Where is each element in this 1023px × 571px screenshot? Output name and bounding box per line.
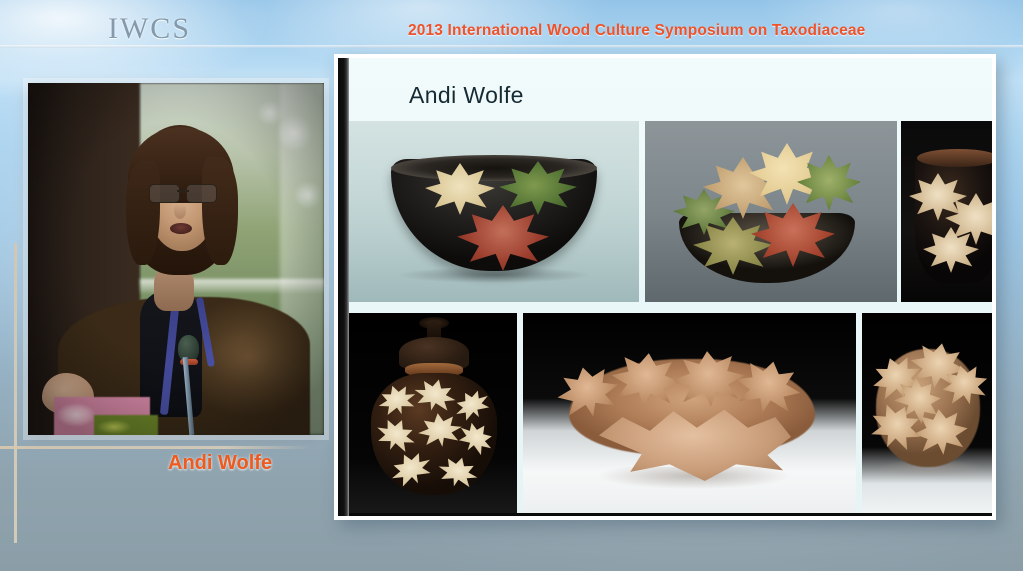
image-dark-carved-vessel[interactable]: [901, 121, 992, 302]
speaker-video-panel[interactable]: [28, 83, 324, 435]
vertical-accent-rule: [14, 243, 17, 543]
speaker-nose: [174, 203, 186, 219]
slide-image-grid: [349, 121, 992, 516]
header-divider: [0, 45, 1023, 48]
image-openwork-leaf-sphere[interactable]: [862, 313, 992, 516]
slide-title: Andi Wolfe: [409, 82, 524, 109]
slide-image-row-top: [349, 121, 992, 302]
speaker-hair-left: [126, 161, 160, 265]
iwcs-logo: IWCS: [108, 12, 191, 46]
speaker-video-frame: [28, 83, 324, 435]
presentation-stage: IWCS 2013 International Wood Culture Sym…: [0, 0, 1023, 571]
image-painted-maple-leaf-bowl[interactable]: [349, 121, 639, 302]
podium-foliage: [94, 415, 158, 435]
slide-bottom-edge: [349, 513, 992, 516]
slide-image-row-bottom: [349, 313, 992, 516]
vessel-rim: [917, 149, 992, 167]
image-oak-leaf-bowl[interactable]: [523, 313, 856, 516]
image-sculptural-leaf-bowl[interactable]: [645, 121, 897, 302]
microphone-head: [178, 335, 199, 362]
slide-left-band: [338, 58, 349, 516]
speaker-glasses: [148, 184, 218, 201]
speaker-glasses-bridge: [177, 190, 189, 192]
image-lidded-leaf-jar[interactable]: [349, 313, 517, 516]
slide-panel[interactable]: Andi Wolfe: [334, 54, 996, 520]
horizontal-accent-rule: [0, 446, 312, 449]
speaker-name-caption: Andi Wolfe: [168, 452, 272, 475]
speaker-hair-right: [202, 157, 238, 265]
slide-content: Andi Wolfe: [338, 58, 992, 516]
speaker-mouth: [170, 223, 192, 234]
bowl-rim: [391, 155, 597, 181]
symposium-title: 2013 International Wood Culture Symposiu…: [408, 22, 865, 40]
page-header: IWCS 2013 International Wood Culture Sym…: [0, 0, 1023, 47]
